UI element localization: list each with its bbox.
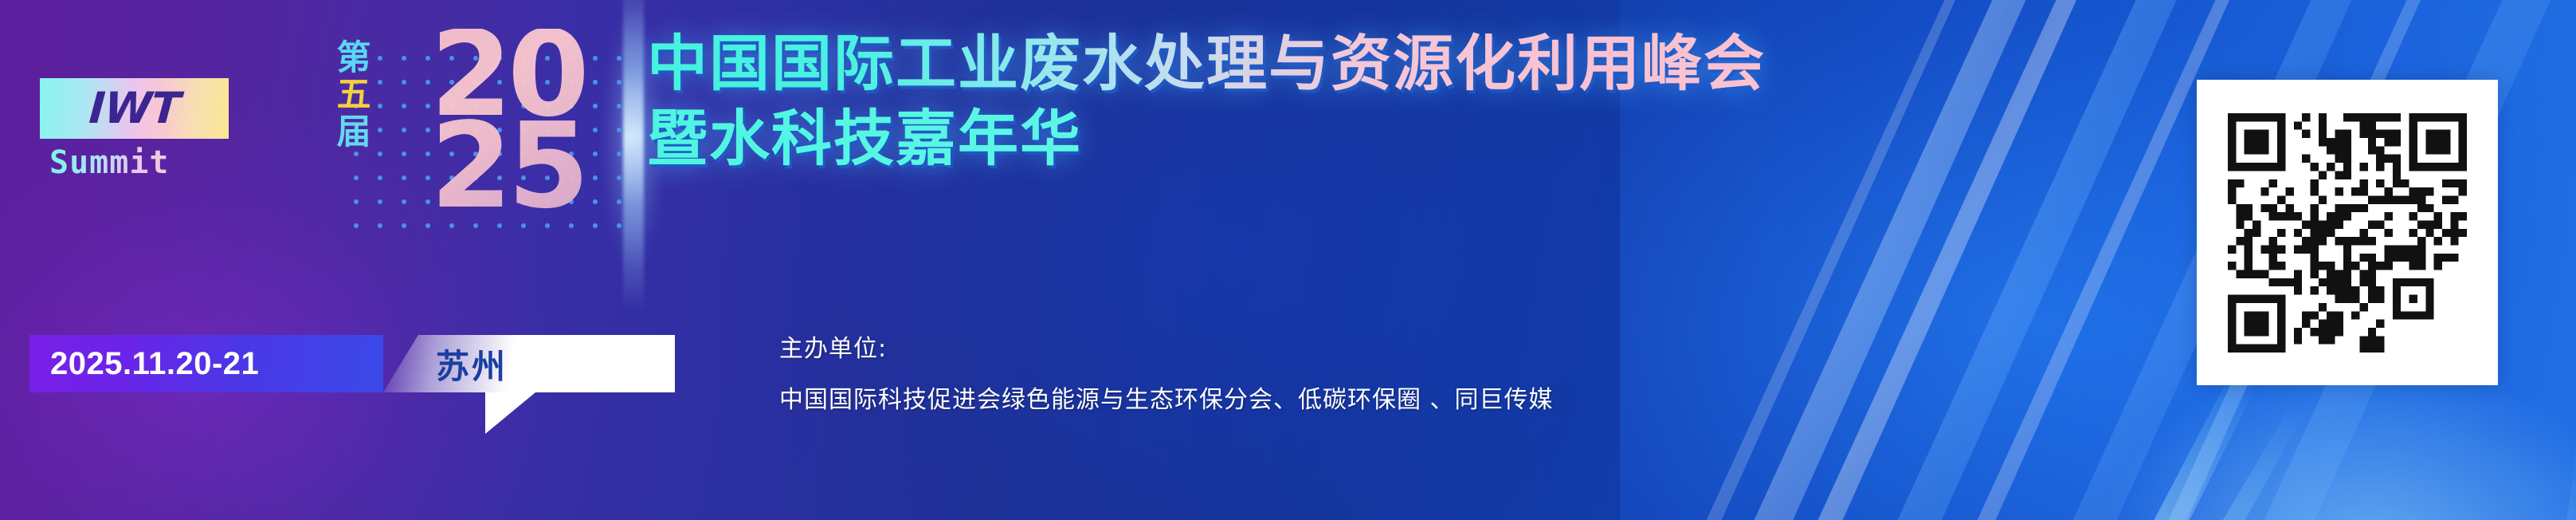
- title-line-1: 中国国际工业废水处理与资源化利用峰会: [647, 32, 1766, 96]
- date-city-badge: 2025.11.20-21 苏州: [29, 335, 675, 392]
- iwt-logo: IWT Summit: [40, 78, 239, 179]
- main-title: 中国国际工业废水处理与资源化利用峰会 暨水科技嘉年华: [647, 32, 1766, 171]
- city-badge: 苏州: [383, 335, 675, 392]
- city-text: 苏州: [436, 340, 508, 388]
- logo-mark-text: IWT: [88, 87, 181, 130]
- organizer-label: 主办单位:: [779, 329, 1554, 364]
- edition-label: 第 五 届: [331, 40, 377, 151]
- date-text: 2025.11.20-21: [50, 346, 259, 382]
- date-badge: 2025.11.20-21: [29, 335, 383, 392]
- logo-box: IWT: [40, 78, 229, 139]
- qr-code-frame[interactable]: [2197, 80, 2498, 385]
- event-banner: IWT Summit 第 五 届 20 25 中国国际工业废水处理与资源化利用峰…: [0, 0, 2576, 520]
- edition-char-3: 届: [337, 114, 371, 151]
- edition-char-2: 五: [337, 77, 371, 113]
- organizer-names: 中国国际科技促进会绿色能源与生态环保分会、低碳环保圈 、同巨传媒: [779, 380, 1554, 415]
- badge-ribbon-tail: [485, 392, 535, 434]
- edition-char-1: 第: [337, 40, 371, 77]
- organizer-block: 主办单位: 中国国际科技促进会绿色能源与生态环保分会、低碳环保圈 、同巨传媒: [779, 329, 1554, 415]
- title-line-2: 暨水科技嘉年华: [647, 107, 1766, 171]
- year-graphic: 20 25: [430, 29, 585, 213]
- logo-wordmark: Summit: [49, 147, 239, 179]
- vertical-beam: [623, 0, 644, 311]
- year-line-2: 25: [430, 120, 585, 212]
- qr-code-image[interactable]: [2228, 113, 2467, 353]
